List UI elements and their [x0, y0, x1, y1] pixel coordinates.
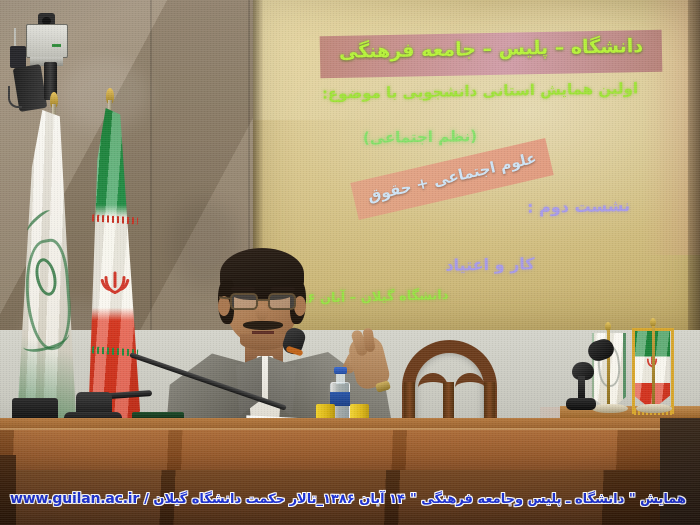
desk-flag-stand [636, 404, 672, 413]
eyeglasses-lens [230, 293, 258, 310]
nose [256, 305, 268, 321]
eyebrow [231, 287, 255, 291]
camera-cable [8, 86, 22, 108]
desk-flag-rod [652, 326, 655, 408]
caption-date-venue: ۱۴ آبان ۱۳۸۶_تالار حکمت دانشگاه گیلان / [144, 492, 405, 507]
caption-event-title: همایش " دانشگاه ـ پلیس وجامعه فرهنگی " [410, 492, 686, 507]
desk-flag-stand [592, 404, 628, 413]
camera-body [26, 24, 68, 58]
eyeglasses-lens [268, 293, 296, 310]
eyebrow [271, 287, 295, 291]
screen-right-edge [688, 0, 700, 330]
caption-url: www.guilan.ac.ir [10, 491, 139, 507]
chin [240, 334, 286, 350]
water-bottle-cap [334, 367, 347, 374]
microphone-base [566, 398, 596, 410]
iran-emblem-icon [100, 268, 130, 296]
mustache [243, 321, 283, 330]
camera-indicator [52, 44, 61, 47]
slide-session-topic: کار و اعتیاد [400, 253, 580, 275]
eyeglasses-bridge [258, 299, 268, 301]
camera-aux-box [10, 46, 26, 68]
caption-bar: همایش " دانشگاه ـ پلیس وجامعه فرهنگی " ۱… [0, 484, 700, 514]
slide-session-label: نشست دوم : [400, 196, 630, 219]
conference-photograph: دانشگاه – پلیس – جامعه فرهنگی اولین همای… [0, 0, 700, 525]
